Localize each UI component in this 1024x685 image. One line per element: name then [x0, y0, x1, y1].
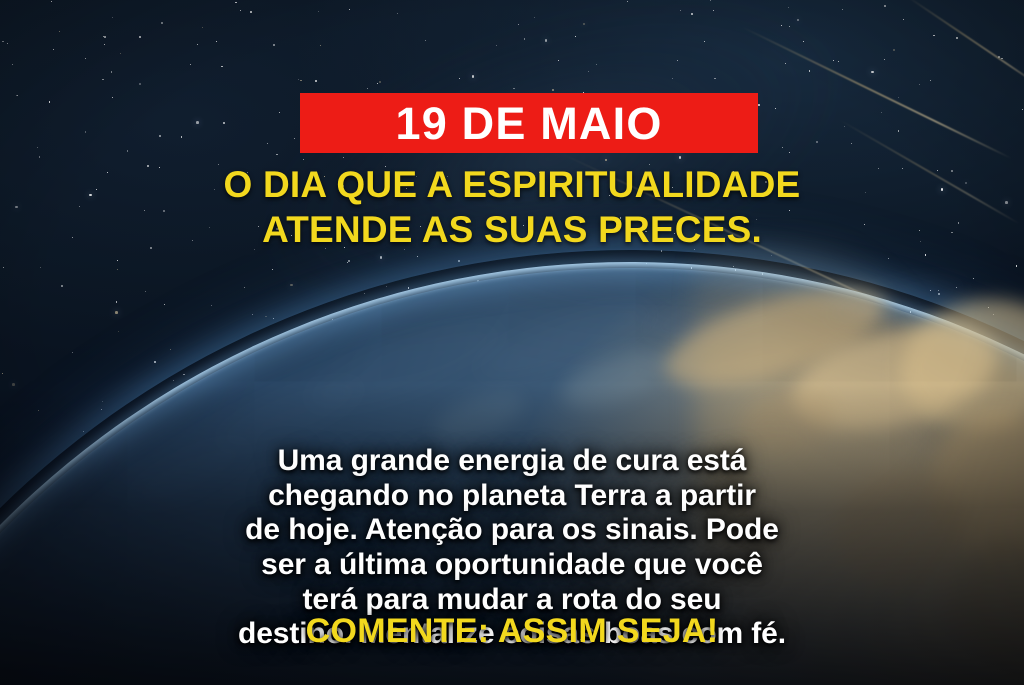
poster-canvas: 19 DE MAIO O DIA QUE A ESPIRITUALIDADE A… — [0, 0, 1024, 685]
date-banner: 19 DE MAIO — [300, 93, 758, 153]
body-line-4: ser a última oportunidade que você — [0, 548, 1024, 583]
date-banner-label: 19 DE MAIO — [395, 101, 662, 146]
body-line-3: de hoje. Atenção para os sinais. Pode — [0, 513, 1024, 548]
headline-line-1: O DIA QUE A ESPIRITUALIDADE — [0, 163, 1024, 208]
headline-line-2: ATENDE AS SUAS PRECES. — [0, 208, 1024, 253]
body-line-2: chegando no planeta Terra a partir — [0, 479, 1024, 514]
headline: O DIA QUE A ESPIRITUALIDADE ATENDE AS SU… — [0, 163, 1024, 253]
poster-content: 19 DE MAIO O DIA QUE A ESPIRITUALIDADE A… — [0, 0, 1024, 685]
body-line-1: Uma grande energia de cura está — [0, 444, 1024, 479]
call-to-action: COMENTE: ASSIM SEJA! — [0, 612, 1024, 651]
